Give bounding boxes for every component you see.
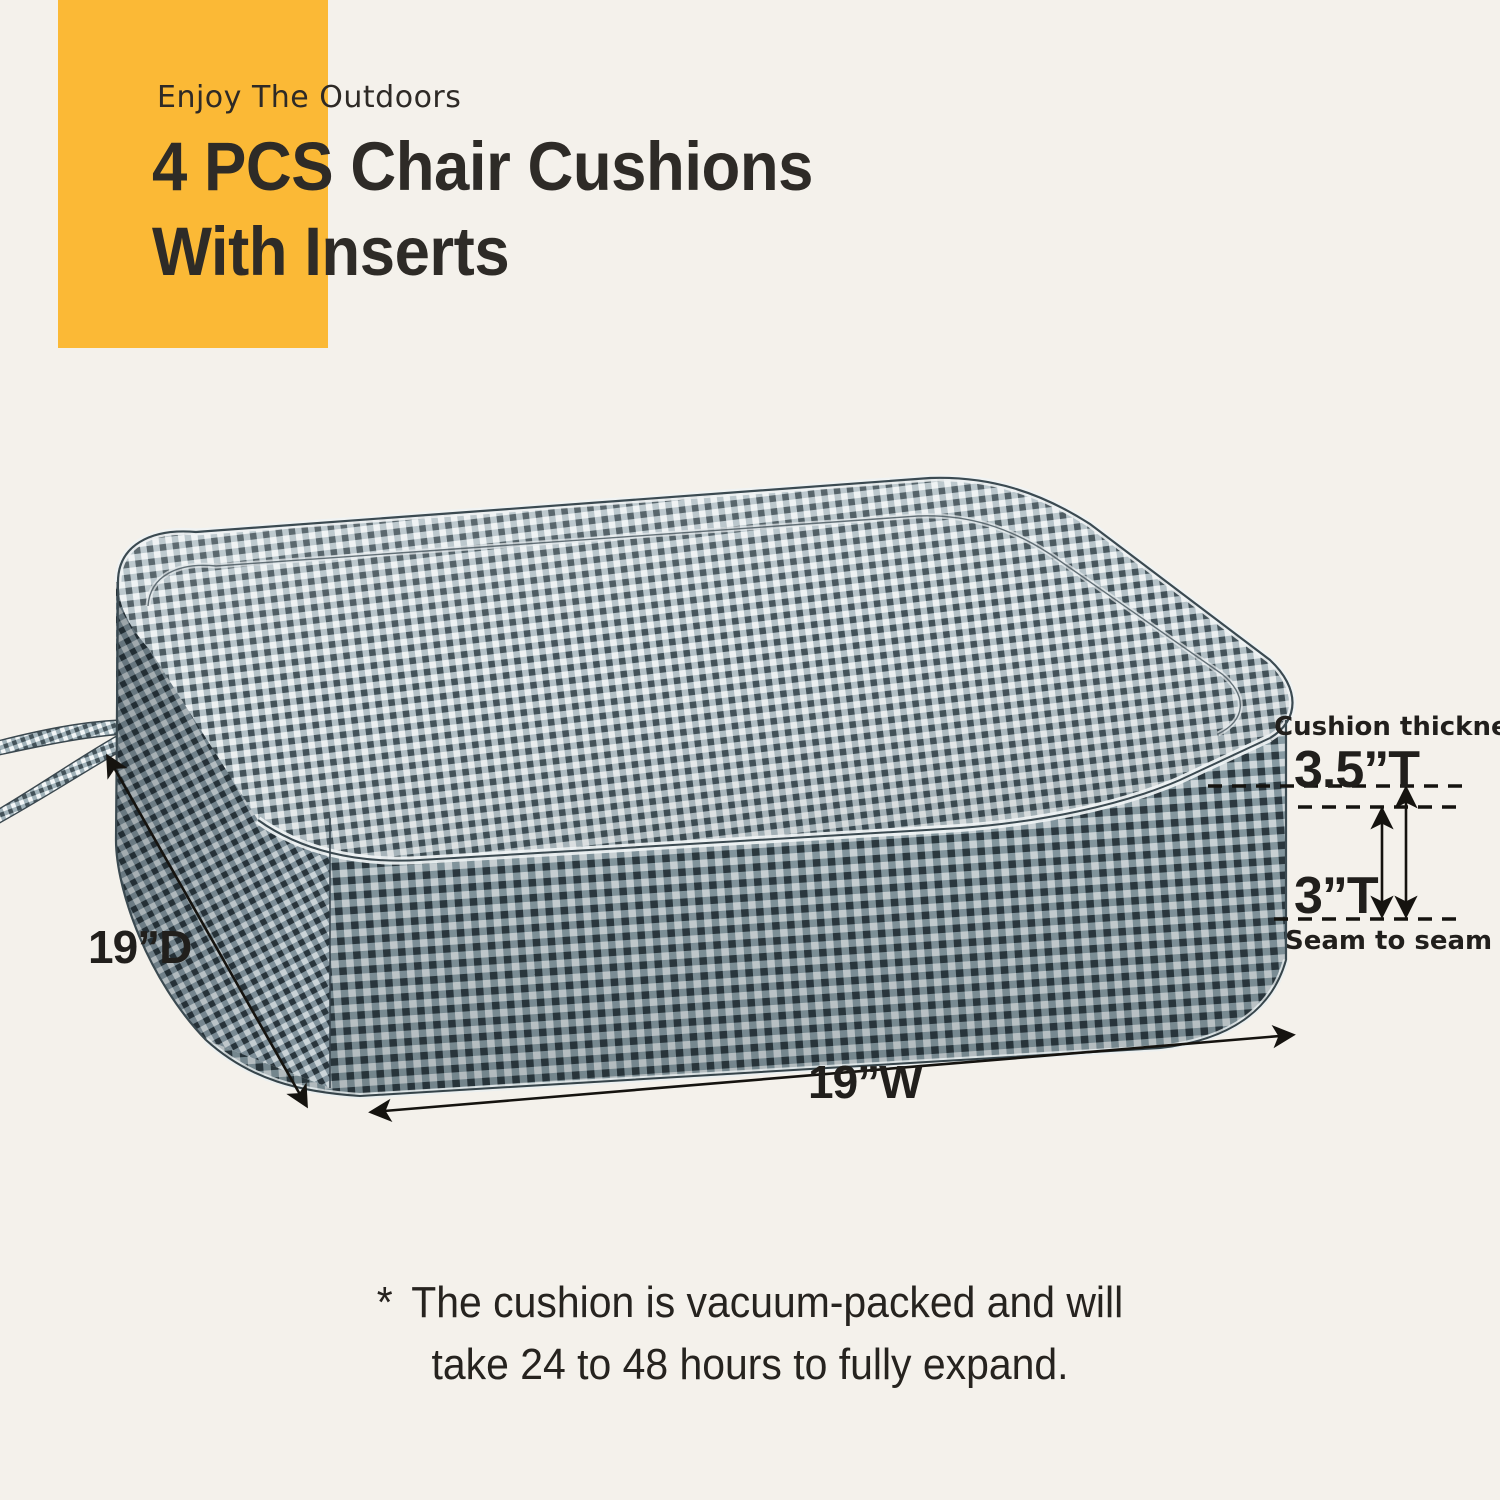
seam-caption: Seam to seam	[1285, 926, 1492, 956]
thickness-caption: Cushion thickness	[1274, 712, 1500, 742]
seam-thickness-label: 3”T	[1294, 866, 1378, 926]
page-title: 4 PCS Chair Cushions With Inserts	[152, 124, 1072, 294]
width-label: 19”W	[808, 1055, 922, 1109]
total-thickness-label: 3.5”T	[1294, 740, 1419, 800]
depth-label: 19”D	[88, 920, 191, 974]
footnote: *The cushion is vacuum-packed and will t…	[285, 1272, 1215, 1396]
eyebrow-text: Enjoy The Outdoors	[157, 80, 461, 115]
cushion-illustration	[0, 420, 1500, 1140]
infographic-canvas: Enjoy The Outdoors 4 PCS Chair Cushions …	[0, 0, 1500, 1500]
footnote-text: The cushion is vacuum-packed and will ta…	[411, 1278, 1123, 1389]
footnote-marker: *	[377, 1278, 412, 1327]
cushion-svg	[0, 420, 1500, 1140]
